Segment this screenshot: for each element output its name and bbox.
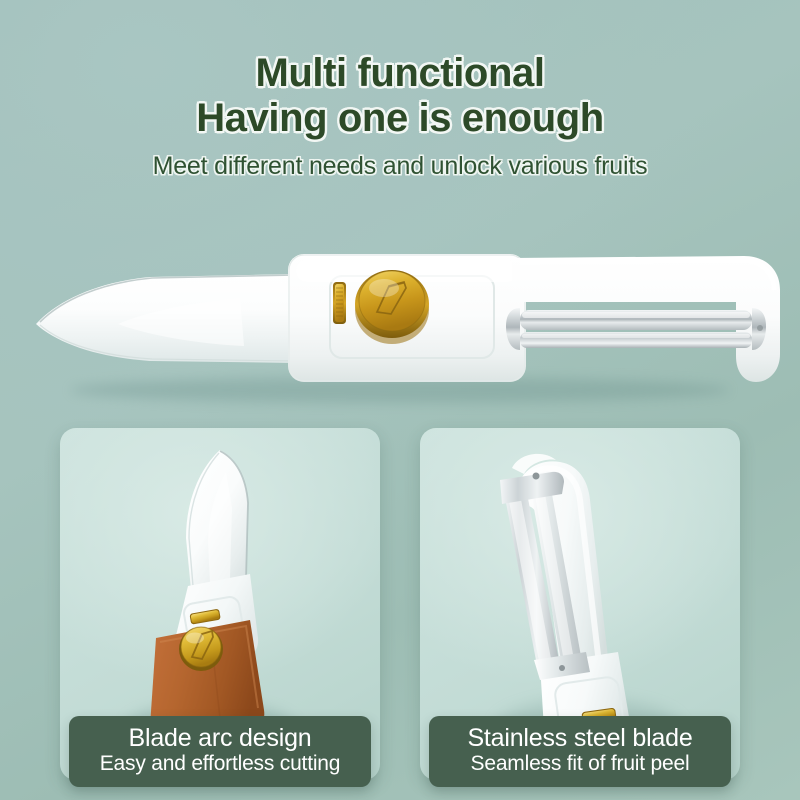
blade-pivot-pin <box>757 325 763 331</box>
promo-header: Multi functional Having one is enough Me… <box>0 0 800 181</box>
panel-caption-stainless-steel-blade: Stainless steel blade Seamless fit of fr… <box>429 716 731 787</box>
gold-ribbed-slider <box>333 282 346 324</box>
blade-pivot-pin-bottom <box>559 665 565 671</box>
blade-pivot-pin-top <box>533 473 540 480</box>
panel-caption-blade-arc-design: Blade arc design Easy and effortless cut… <box>69 716 371 787</box>
hero-product-image <box>0 232 800 422</box>
caption-title: Stainless steel blade <box>437 725 723 752</box>
caption-subtitle: Seamless fit of fruit peel <box>437 752 723 776</box>
caption-subtitle: Easy and effortless cutting <box>77 752 363 776</box>
headline-line-1: Multi functional <box>0 52 800 95</box>
feature-panel-blade-arc-design[interactable]: Blade arc design Easy and effortless cut… <box>60 428 380 780</box>
subheadline: Meet different needs and unlock various … <box>0 152 800 181</box>
gold-lock-button <box>355 270 429 344</box>
gold-lock-button-panel <box>179 627 223 671</box>
feature-panel-stainless-steel-blade[interactable]: Stainless steel blade Seamless fit of fr… <box>420 428 740 780</box>
stainless-steel-peeler-blade <box>506 308 766 350</box>
feature-panels: Blade arc design Easy and effortless cut… <box>0 428 800 780</box>
caption-title: Blade arc design <box>77 725 363 752</box>
headline-line-2: Having one is enough <box>0 97 800 140</box>
